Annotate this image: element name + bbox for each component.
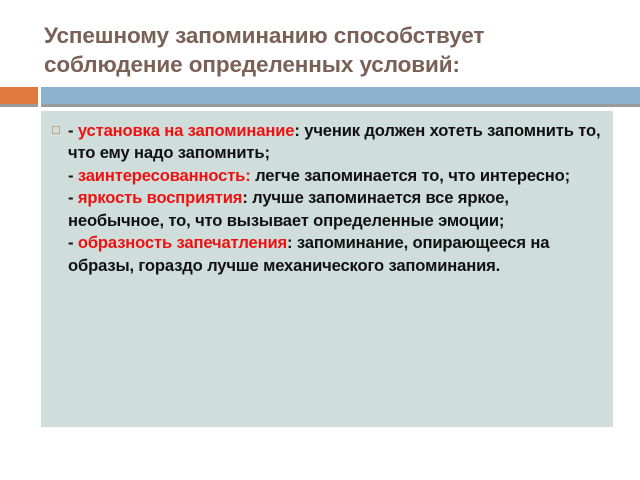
condition-2-term: заинтересованность:	[78, 166, 251, 185]
conditions-list: - установка на запоминание: ученик долже…	[41, 111, 613, 277]
condition-2-description: легче запоминается то, что интересно;	[255, 166, 570, 185]
condition-4-separator: :	[287, 233, 297, 252]
conditions-paragraph: - установка на запоминание: ученик долже…	[68, 121, 600, 275]
orange-accent-block-shadow	[0, 104, 38, 107]
condition-3-separator: :	[242, 188, 252, 207]
title-divider-bar	[0, 87, 640, 109]
content-panel: - установка на запоминание: ученик долже…	[41, 111, 613, 427]
orange-accent-block	[0, 87, 38, 104]
condition-4-dash: -	[68, 233, 78, 252]
condition-3-dash: -	[68, 188, 78, 207]
condition-3-term: яркость восприятия	[78, 188, 242, 207]
condition-1-dash: -	[68, 121, 78, 140]
square-outline-bullet-icon	[52, 126, 60, 134]
condition-1-term: установка на запоминание	[78, 121, 295, 140]
blue-accent-bar-shadow	[41, 104, 640, 107]
blue-accent-bar	[41, 87, 640, 104]
slide-title: Успешному запоминанию способствует соблю…	[44, 22, 604, 80]
condition-2-dash: -	[68, 166, 78, 185]
list-item: - установка на запоминание: ученик долже…	[41, 111, 613, 277]
presentation-slide: Успешному запоминанию способствует соблю…	[0, 0, 640, 480]
condition-1-separator: :	[294, 121, 304, 140]
condition-4-term: образность запечатления	[78, 233, 287, 252]
